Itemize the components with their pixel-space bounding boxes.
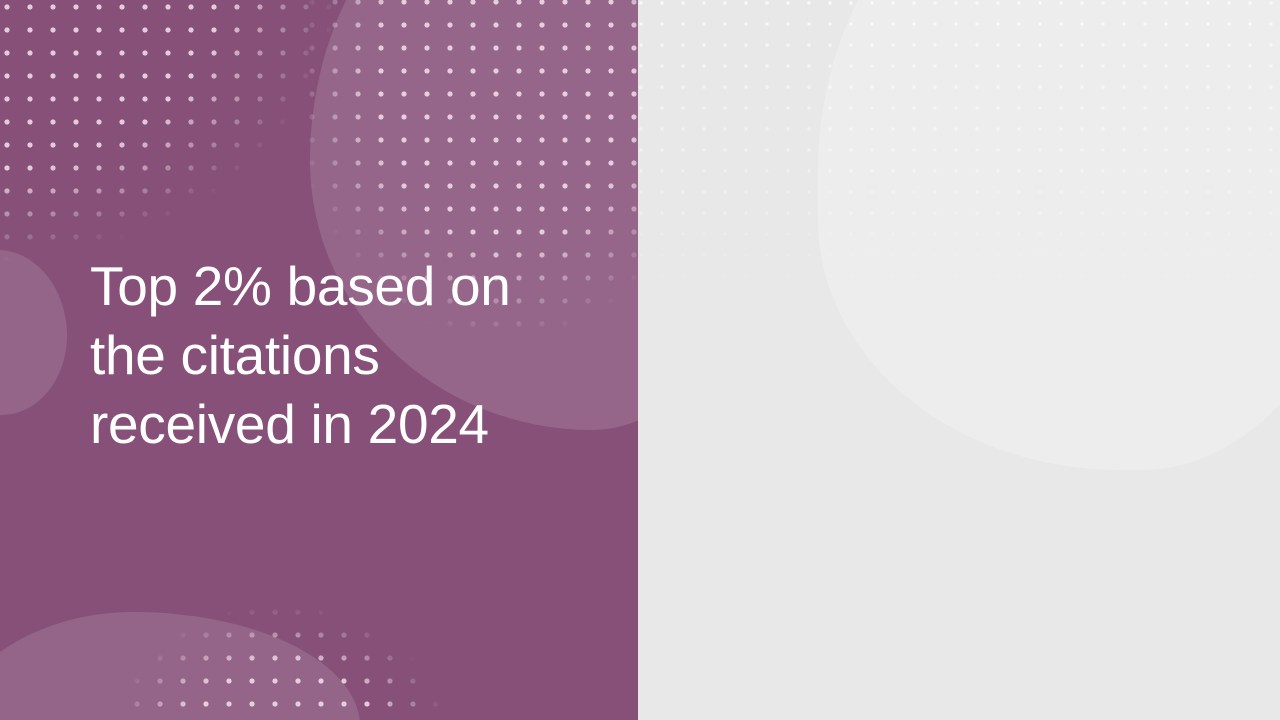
decorative-dot-pattern-right — [638, 0, 1280, 300]
decorative-blob-left — [0, 250, 67, 415]
decorative-blob-bottom — [0, 612, 360, 720]
slide-title: Top 2% based on the citations received i… — [90, 252, 590, 459]
title-panel: Top 2% based on the citations received i… — [0, 0, 638, 720]
content-panel: Prof. Abdolreza SimchiDr. Majid Pouranva… — [638, 0, 1280, 720]
slide-canvas: Prof. Abdolreza SimchiDr. Majid Pouranva… — [0, 0, 1280, 720]
